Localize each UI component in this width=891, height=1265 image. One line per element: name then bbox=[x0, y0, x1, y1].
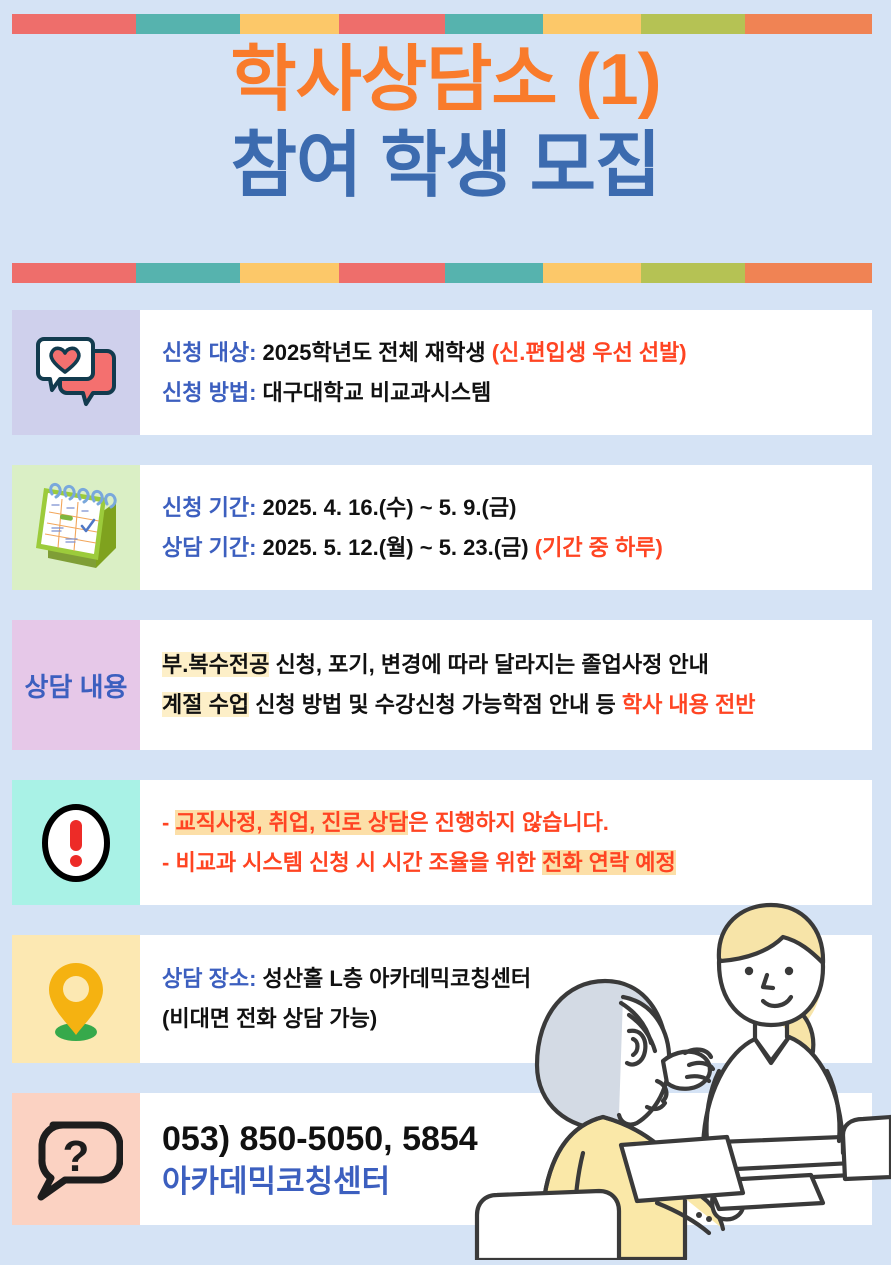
organization-name: 아카데믹코칭센터 bbox=[162, 1163, 872, 1200]
stripe-segment-1 bbox=[12, 14, 136, 34]
decorative-stripe-top bbox=[12, 14, 872, 34]
content-line-2-note: 학사 내용 전반 bbox=[622, 692, 756, 717]
content-line-1: 부.복수전공 신청, 포기, 변경에 따라 달라지는 졸업사정 안내 bbox=[162, 650, 872, 680]
content-line-2-mid: 신청 방법 및 수강신청 가능학점 안내 등 bbox=[249, 692, 622, 717]
title-line-1: 학사상담소 (1) bbox=[0, 44, 891, 116]
desk-calendar-icon bbox=[12, 465, 140, 590]
notice-line-2-dash: - bbox=[162, 850, 175, 875]
location-pin-icon bbox=[12, 935, 140, 1063]
stripe-segment-2 bbox=[136, 14, 240, 34]
target-line-2-value: 대구대학교 비교과시스템 bbox=[263, 380, 492, 405]
stripe-segment-7 bbox=[641, 263, 744, 283]
target-text-body: 신청 대상: 2025학년도 전체 재학생 (신.편입생 우선 선발) 신청 방… bbox=[140, 310, 872, 435]
notice-line-2-highlight: 전화 연락 예정 bbox=[542, 850, 676, 875]
info-row-content: 상담 내용 부.복수전공 신청, 포기, 변경에 따라 달라지는 졸업사정 안내… bbox=[12, 620, 872, 750]
period-text-body: 신청 기간: 2025. 4. 16.(수) ~ 5. 9.(금) 상담 기간:… bbox=[140, 465, 872, 590]
info-row-place: 상담 장소: 성산홀 L층 아카데믹코칭센터 (비대면 전화 상담 가능) bbox=[12, 935, 872, 1063]
stripe-segment-1 bbox=[12, 263, 136, 283]
target-line-1: 신청 대상: 2025학년도 전체 재학생 (신.편입생 우선 선발) bbox=[162, 338, 872, 368]
content-line-1-highlight: 부.복수전공 bbox=[162, 652, 269, 677]
notice-line-1-highlight: 교직사정, 취업, 진로 상담 bbox=[175, 810, 408, 835]
stripe-segment-6 bbox=[543, 14, 642, 34]
notice-line-1: - 교직사정, 취업, 진로 상담은 진행하지 않습니다. bbox=[162, 808, 872, 838]
stripe-segment-8 bbox=[745, 263, 872, 283]
period-line-2-label: 상담 기간: bbox=[162, 535, 263, 560]
stripe-segment-8 bbox=[745, 14, 872, 34]
stripe-segment-4 bbox=[339, 263, 445, 283]
content-line-1-rest: 신청, 포기, 변경에 따라 달라지는 졸업사정 안내 bbox=[269, 652, 709, 677]
notice-text-body: - 교직사정, 취업, 진로 상담은 진행하지 않습니다. - 비교과 시스템 … bbox=[140, 780, 872, 905]
info-row-period: 신청 기간: 2025. 4. 16.(수) ~ 5. 9.(금) 상담 기간:… bbox=[12, 465, 872, 590]
stripe-segment-6 bbox=[543, 263, 642, 283]
info-row-contact: ? 053) 850-5050, 5854 아카데믹코칭센터 bbox=[12, 1093, 872, 1225]
warning-exclamation-icon bbox=[12, 780, 140, 905]
poster-title: 학사상담소 (1) 참여 학생 모집 bbox=[0, 44, 891, 202]
period-line-2-value: 2025. 5. 12.(월) ~ 5. 23.(금) bbox=[263, 535, 535, 560]
stripe-segment-4 bbox=[339, 14, 445, 34]
stripe-segment-3 bbox=[240, 263, 339, 283]
period-line-1: 신청 기간: 2025. 4. 16.(수) ~ 5. 9.(금) bbox=[162, 493, 872, 523]
chat-heart-icon bbox=[12, 310, 140, 435]
target-line-1-label: 신청 대상: bbox=[162, 340, 263, 365]
place-text-body: 상담 장소: 성산홀 L층 아카데믹코칭센터 (비대면 전화 상담 가능) bbox=[140, 935, 872, 1063]
period-line-1-value: 2025. 4. 16.(수) ~ 5. 9.(금) bbox=[263, 495, 517, 520]
target-line-2-label: 신청 방법: bbox=[162, 380, 263, 405]
place-line-1-label: 상담 장소: bbox=[162, 966, 263, 991]
place-line-2: (비대면 전화 상담 가능) bbox=[162, 1004, 872, 1034]
notice-line-1-rest: 은 진행하지 않습니다. bbox=[408, 810, 609, 835]
info-row-notice: - 교직사정, 취업, 진로 상담은 진행하지 않습니다. - 비교과 시스템 … bbox=[12, 780, 872, 905]
title-line-2: 참여 학생 모집 bbox=[0, 130, 891, 202]
question-speech-bubble-icon: ? bbox=[12, 1093, 140, 1225]
stripe-segment-2 bbox=[136, 263, 240, 283]
stripe-segment-5 bbox=[445, 263, 543, 283]
info-row-target: 신청 대상: 2025학년도 전체 재학생 (신.편입생 우선 선발) 신청 방… bbox=[12, 310, 872, 435]
phone-number: 053) 850-5050, 5854 bbox=[162, 1119, 872, 1160]
place-line-1: 상담 장소: 성산홀 L층 아카데믹코칭센터 bbox=[162, 964, 872, 994]
stripe-segment-7 bbox=[641, 14, 744, 34]
content-line-2: 계절 수업 신청 방법 및 수강신청 가능학점 안내 등 학사 내용 전반 bbox=[162, 690, 872, 720]
content-text-body: 부.복수전공 신청, 포기, 변경에 따라 달라지는 졸업사정 안내 계절 수업… bbox=[140, 620, 872, 750]
period-line-2: 상담 기간: 2025. 5. 12.(월) ~ 5. 23.(금) (기간 중… bbox=[162, 533, 872, 563]
decorative-stripe-bottom bbox=[12, 263, 872, 283]
notice-line-2-text: 비교과 시스템 신청 시 시간 조율을 위한 bbox=[175, 850, 542, 875]
target-line-1-value: 2025학년도 전체 재학생 bbox=[263, 340, 492, 365]
place-line-1-value: 성산홀 L층 아카데믹코칭센터 bbox=[263, 966, 532, 991]
notice-line-1-dash: - bbox=[162, 810, 175, 835]
contact-text-body: 053) 850-5050, 5854 아카데믹코칭센터 bbox=[140, 1093, 872, 1225]
svg-text:?: ? bbox=[63, 1132, 90, 1181]
target-line-2: 신청 방법: 대구대학교 비교과시스템 bbox=[162, 378, 872, 408]
period-line-2-note: (기간 중 하루) bbox=[535, 535, 663, 560]
period-line-1-label: 신청 기간: bbox=[162, 495, 263, 520]
stripe-segment-5 bbox=[445, 14, 543, 34]
content-line-2-highlight: 계절 수업 bbox=[162, 692, 249, 717]
content-heading: 상담 내용 bbox=[12, 620, 140, 750]
notice-line-2: - 비교과 시스템 신청 시 시간 조율을 위한 전화 연락 예정 bbox=[162, 848, 872, 878]
stripe-segment-3 bbox=[240, 14, 339, 34]
target-line-1-note: (신.편입생 우선 선발) bbox=[492, 340, 687, 365]
